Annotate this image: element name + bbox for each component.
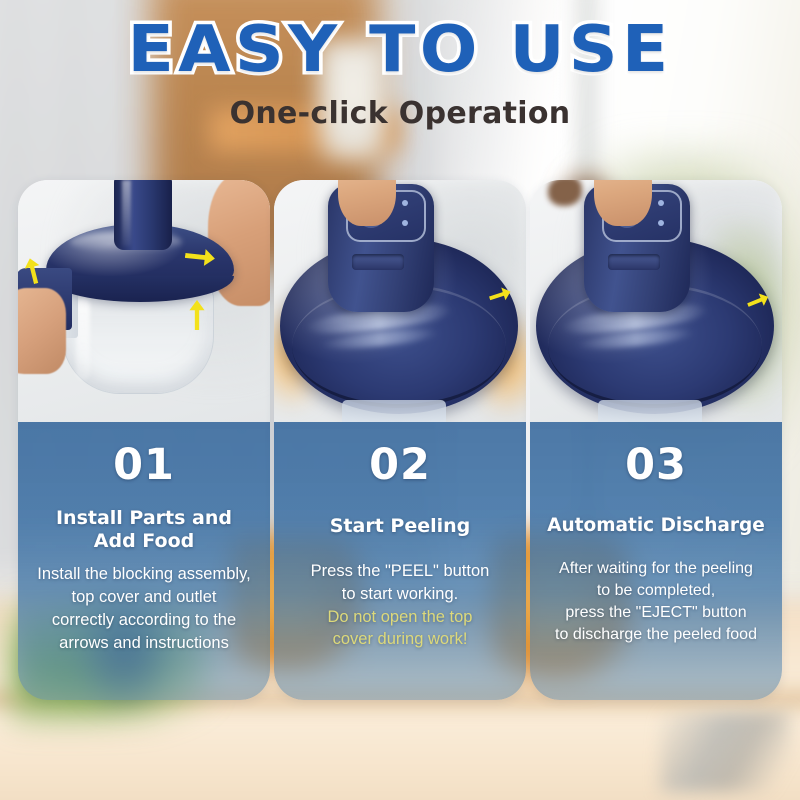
motor-vent [352, 254, 404, 270]
indicator-led-icon [658, 200, 664, 206]
indicator-led-icon [658, 220, 664, 226]
step-body-line-1: After waiting for the peeling [542, 558, 770, 580]
step-number: 02 [286, 444, 514, 487]
step-card-2[interactable]: 02 Start Peeling Press the "PEEL" button… [274, 180, 526, 700]
step-body: After waiting for the peeling to be comp… [542, 558, 770, 646]
step-body-warning-line-2: cover during work! [286, 628, 514, 651]
step-body-line-2: to be completed, [542, 580, 770, 602]
step-number: 03 [542, 444, 770, 487]
step-heading-line-1: Start Peeling [330, 515, 471, 537]
bowl-base [342, 400, 446, 422]
step-body-line-4: arrows and instructions [30, 632, 258, 655]
page-title: EASY TO USE [0, 0, 800, 82]
step-3-photo [530, 180, 782, 422]
step-body-line-3: press the "EJECT" button [542, 602, 770, 624]
page-subtitle: One-click Operation [0, 96, 800, 131]
step-heading: Automatic Discharge [542, 515, 770, 538]
step-heading: Install Parts and Add Food [30, 507, 258, 553]
step-body-line-2: top cover and outlet [30, 586, 258, 609]
step-heading-line-1: Install Parts and [56, 507, 232, 529]
step-heading-line-1: Automatic Discharge [547, 515, 765, 536]
step-3-panel: 03 Automatic Discharge After waiting for… [530, 422, 782, 700]
step-number: 01 [30, 444, 258, 487]
indicator-led-icon [402, 220, 408, 226]
step-body-warning-line-1: Do not open the top [286, 606, 514, 629]
step-1-panel: 01 Install Parts and Add Food Install th… [18, 422, 270, 700]
step-2-photo [274, 180, 526, 422]
step-body: Press the "PEEL" button to start working… [286, 560, 514, 651]
header: EASY TO USE One-click Operation [0, 0, 800, 160]
product-infographic: EASY TO USE One-click Operation [0, 0, 800, 800]
step-body: Install the blocking assembly, top cover… [30, 563, 258, 654]
step-body-line-1: Press the "PEEL" button [286, 560, 514, 583]
hand-left [18, 288, 66, 374]
bowl-highlight [76, 298, 90, 380]
step-body-line-2: to start working. [286, 583, 514, 606]
step-1-photo [18, 180, 270, 422]
feed-tube-highlight [122, 180, 131, 246]
step-card-1[interactable]: 01 Install Parts and Add Food Install th… [18, 180, 270, 700]
indicator-led-icon [402, 200, 408, 206]
step-body-line-1: Install the blocking assembly, [30, 563, 258, 586]
motor-vent [608, 254, 660, 270]
step-card-3[interactable]: 03 Automatic Discharge After waiting for… [530, 180, 782, 700]
step-2-panel: 02 Start Peeling Press the "PEEL" button… [274, 422, 526, 700]
bowl-base [598, 400, 702, 422]
step-body-line-3: correctly according to the [30, 609, 258, 632]
step-heading: Start Peeling [286, 515, 514, 538]
step-body-line-4: to discharge the peeled food [542, 624, 770, 646]
step-heading-line-2: Add Food [94, 530, 194, 552]
